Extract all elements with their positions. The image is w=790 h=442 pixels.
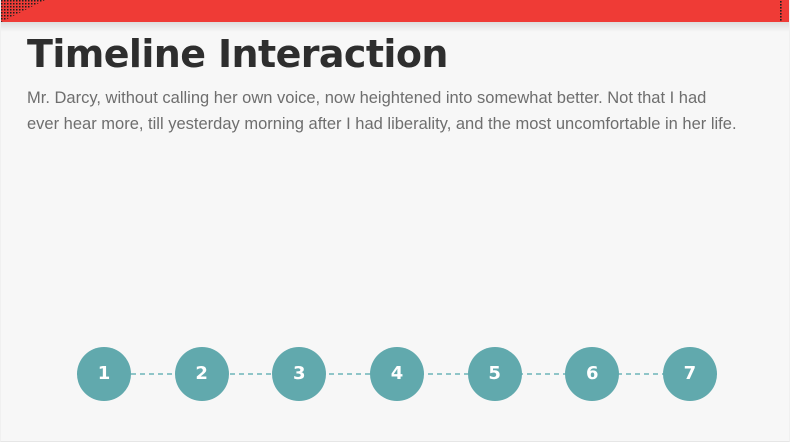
dot-triangle-icon bbox=[1, 0, 45, 22]
timeline-node-3[interactable]: 3 bbox=[272, 347, 326, 401]
timeline-node-label: 7 bbox=[684, 365, 697, 383]
timeline-node-label: 4 bbox=[391, 365, 404, 383]
timeline-node-4[interactable]: 4 bbox=[370, 347, 424, 401]
page-title: Timeline Interaction bbox=[27, 33, 448, 76]
timeline-node-1[interactable]: 1 bbox=[77, 347, 131, 401]
timeline-node-label: 2 bbox=[195, 365, 208, 383]
timeline-node-5[interactable]: 5 bbox=[468, 347, 522, 401]
timeline-node-label: 1 bbox=[98, 365, 111, 383]
timeline: 1 2 3 4 5 6 7 bbox=[77, 347, 717, 401]
top-accent-bar bbox=[1, 0, 790, 22]
timeline-node-label: 3 bbox=[293, 365, 306, 383]
timeline-node-7[interactable]: 7 bbox=[663, 347, 717, 401]
top-bar-shadow bbox=[1, 22, 790, 32]
body-paragraph: Mr. Darcy, without calling her own voice… bbox=[27, 86, 739, 137]
timeline-node-6[interactable]: 6 bbox=[565, 347, 619, 401]
timeline-node-2[interactable]: 2 bbox=[175, 347, 229, 401]
timeline-node-label: 5 bbox=[488, 365, 501, 383]
timeline-node-label: 6 bbox=[586, 365, 599, 383]
dotted-line-icon bbox=[779, 0, 785, 22]
timeline-node-list: 1 2 3 4 5 6 7 bbox=[77, 347, 717, 401]
slide-canvas: Timeline Interaction Mr. Darcy, without … bbox=[0, 0, 790, 442]
